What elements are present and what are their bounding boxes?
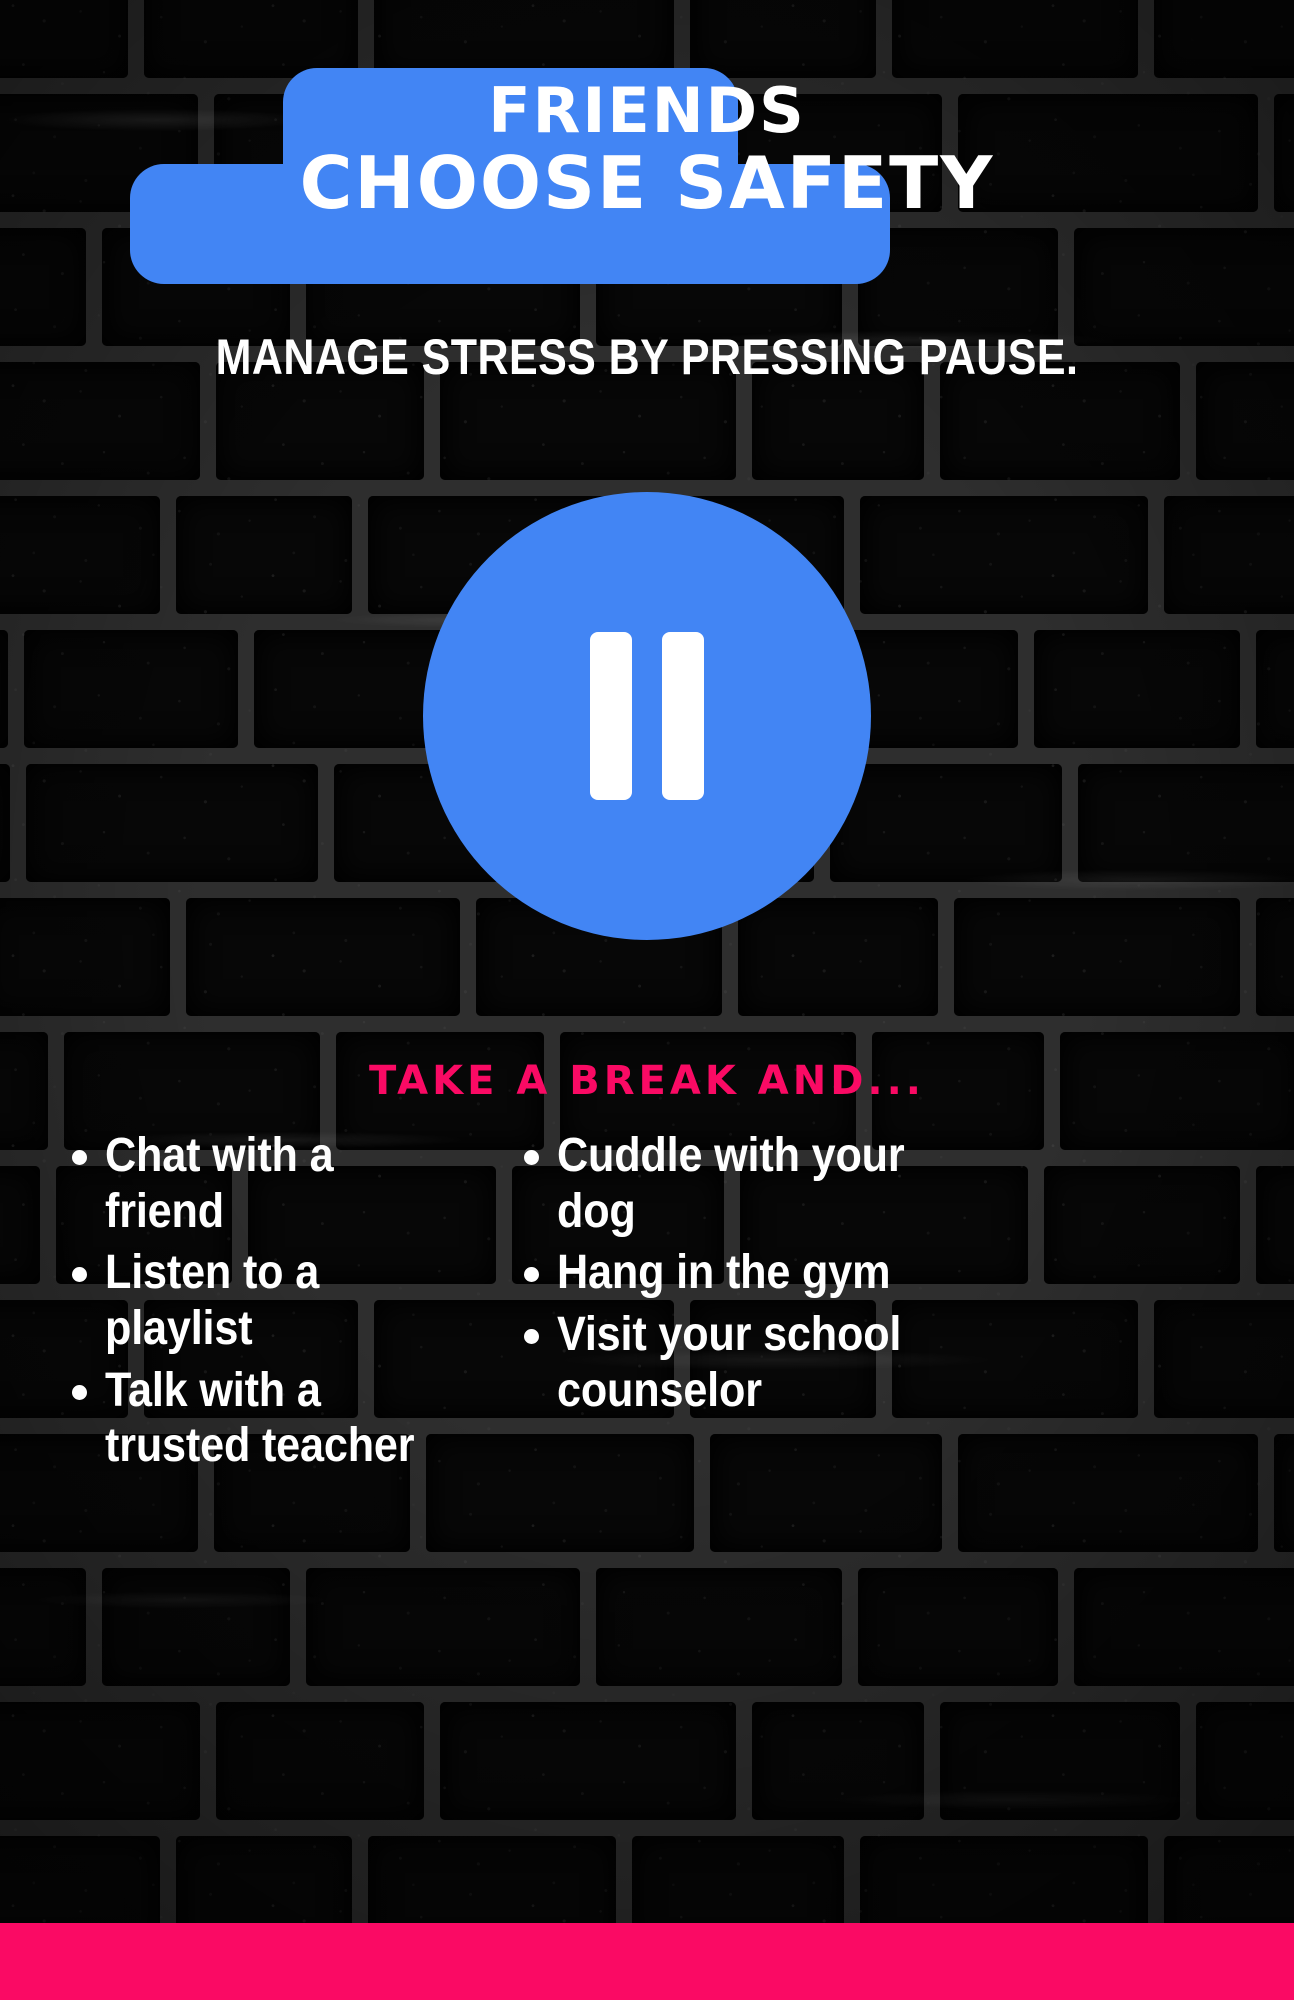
break-idea-label: Visit your school counselor [557,1307,914,1418]
bullet-dot-icon [524,1267,539,1282]
pause-bar-left [590,632,632,800]
vignette-overlay [0,0,1294,2000]
bullet-dot-icon [72,1385,87,1400]
break-ideas-list: Chat with a friendListen to a playlistTa… [72,1128,1072,1480]
poster-canvas: FRIENDS CHOOSE SAFETY MANAGE STRESS BY P… [0,0,1294,2000]
break-ideas-column-left: Chat with a friendListen to a playlistTa… [72,1128,504,1480]
bullet-dot-icon [524,1329,539,1344]
poster-subtitle: MANAGE STRESS BY PRESSING PAUSE. [91,328,1204,386]
bullet-dot-icon [524,1150,539,1165]
bullet-dot-icon [72,1150,87,1165]
pause-graphic-wrapper [0,492,1294,940]
bottom-accent-stripe [0,1923,1294,2000]
break-idea-item: Cuddle with your dog [524,1128,954,1239]
break-idea-item: Listen to a playlist [72,1245,504,1356]
break-idea-label: Hang in the gym [557,1245,890,1301]
break-idea-item: Visit your school counselor [524,1307,954,1418]
break-idea-item: Talk with a trusted teacher [72,1363,504,1474]
bullet-dot-icon [72,1267,87,1282]
take-a-break-heading: TAKE A BREAK AND... [0,1058,1294,1104]
break-ideas-column-right: Cuddle with your dogHang in the gymVisit… [524,1128,954,1480]
break-idea-label: Listen to a playlist [105,1245,464,1356]
pause-icon [423,492,871,940]
pause-bar-right [662,632,704,800]
banner-text-group: FRIENDS CHOOSE SAFETY [0,68,1294,284]
break-idea-item: Hang in the gym [524,1245,954,1301]
poster-title-line-2: CHOOSE SAFETY [300,149,995,217]
break-idea-label: Chat with a friend [105,1128,464,1239]
poster-title-line-1: FRIENDS [488,82,806,141]
break-idea-label: Talk with a trusted teacher [105,1363,464,1474]
title-banner: FRIENDS CHOOSE SAFETY [0,68,1294,284]
break-idea-label: Cuddle with your dog [557,1128,914,1239]
break-idea-item: Chat with a friend [72,1128,504,1239]
brick-wall-background [0,0,1294,2000]
